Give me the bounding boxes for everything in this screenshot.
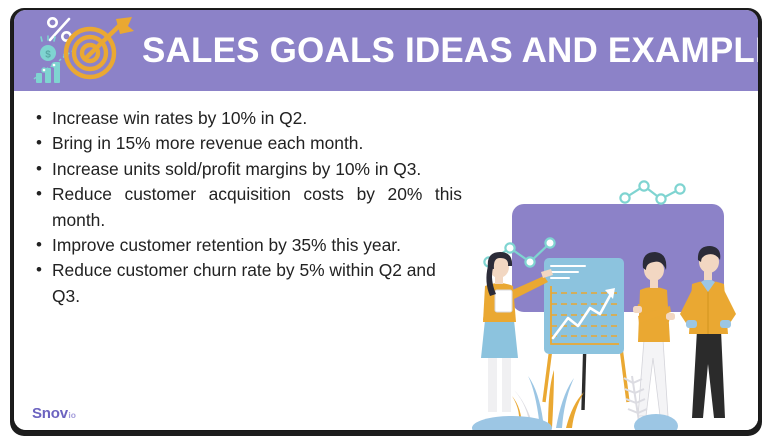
list-item: Increase win rates by 10% in Q2. (30, 106, 462, 131)
logo-suffix: io (68, 410, 76, 420)
snov-logo[interactable]: Snov io (32, 405, 76, 422)
slide-root: $ (0, 0, 768, 442)
list-item: Bring in 15% more revenue each month. (30, 131, 462, 156)
teal-line-chart-top (625, 186, 680, 199)
list-item: Reduce customer churn rate by 5% within … (30, 258, 462, 309)
logo-text: Snov (32, 405, 68, 422)
slide-card: $ (14, 10, 758, 430)
target-dartboard-icon: $ (28, 13, 140, 89)
list-item: Reduce customer acquisition costs by 20%… (30, 182, 462, 233)
business-team-presentation-illustration (452, 180, 758, 430)
presentation-board (544, 258, 624, 354)
slide-body: Increase win rates by 10% in Q2. Bring i… (14, 91, 758, 430)
page-title: SALES GOALS IDEAS AND EXAMPLES (142, 33, 758, 68)
list-item: Increase units sold/profit margins by 10… (30, 157, 462, 182)
list-item: Improve customer retention by 35% this y… (30, 233, 462, 258)
sales-goals-list: Increase win rates by 10% in Q2. Bring i… (30, 106, 462, 309)
svg-text:$: $ (45, 49, 51, 60)
slide-header: $ (14, 10, 758, 91)
